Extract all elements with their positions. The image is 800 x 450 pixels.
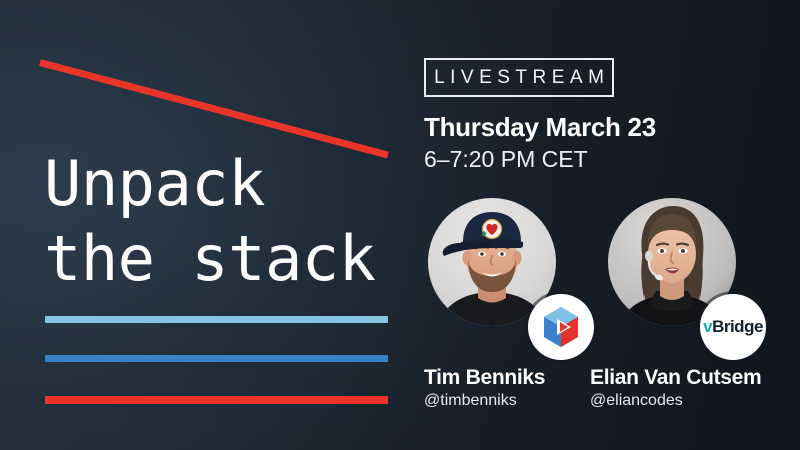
vbridge-v-letter: v — [703, 317, 712, 336]
speaker-handle-tim: @timbenniks — [424, 392, 517, 410]
hexagon-cube-logo-icon — [528, 294, 594, 360]
bar-red — [45, 396, 388, 404]
vbridge-bridge-text: Bridge — [712, 317, 763, 336]
page-title-line2: the stack — [44, 228, 375, 290]
bar-blue — [45, 355, 388, 362]
vbridge-wordmark: vBridge — [703, 317, 763, 337]
red-diagonal-accent — [39, 59, 389, 158]
hexagon-cube-glyph — [538, 304, 584, 350]
page-title-line1: Unpack — [44, 153, 265, 215]
speaker-name-elian: Elian Van Cutsem — [590, 366, 761, 390]
event-date: Thursday March 23 — [424, 112, 656, 143]
livestream-announcement-banner: Unpack the stack LIVESTREAM Thursday Mar… — [0, 0, 800, 450]
vbridge-logo-icon: vBridge — [700, 294, 766, 360]
speaker-name-tim: Tim Benniks — [424, 366, 545, 390]
livestream-badge-label: LIVESTREAM — [429, 67, 610, 89]
event-time: 6–7:20 PM CET — [424, 146, 588, 173]
bar-lightblue — [45, 316, 388, 323]
livestream-badge: LIVESTREAM — [424, 58, 614, 97]
speaker-handle-elian: @eliancodes — [590, 392, 683, 410]
